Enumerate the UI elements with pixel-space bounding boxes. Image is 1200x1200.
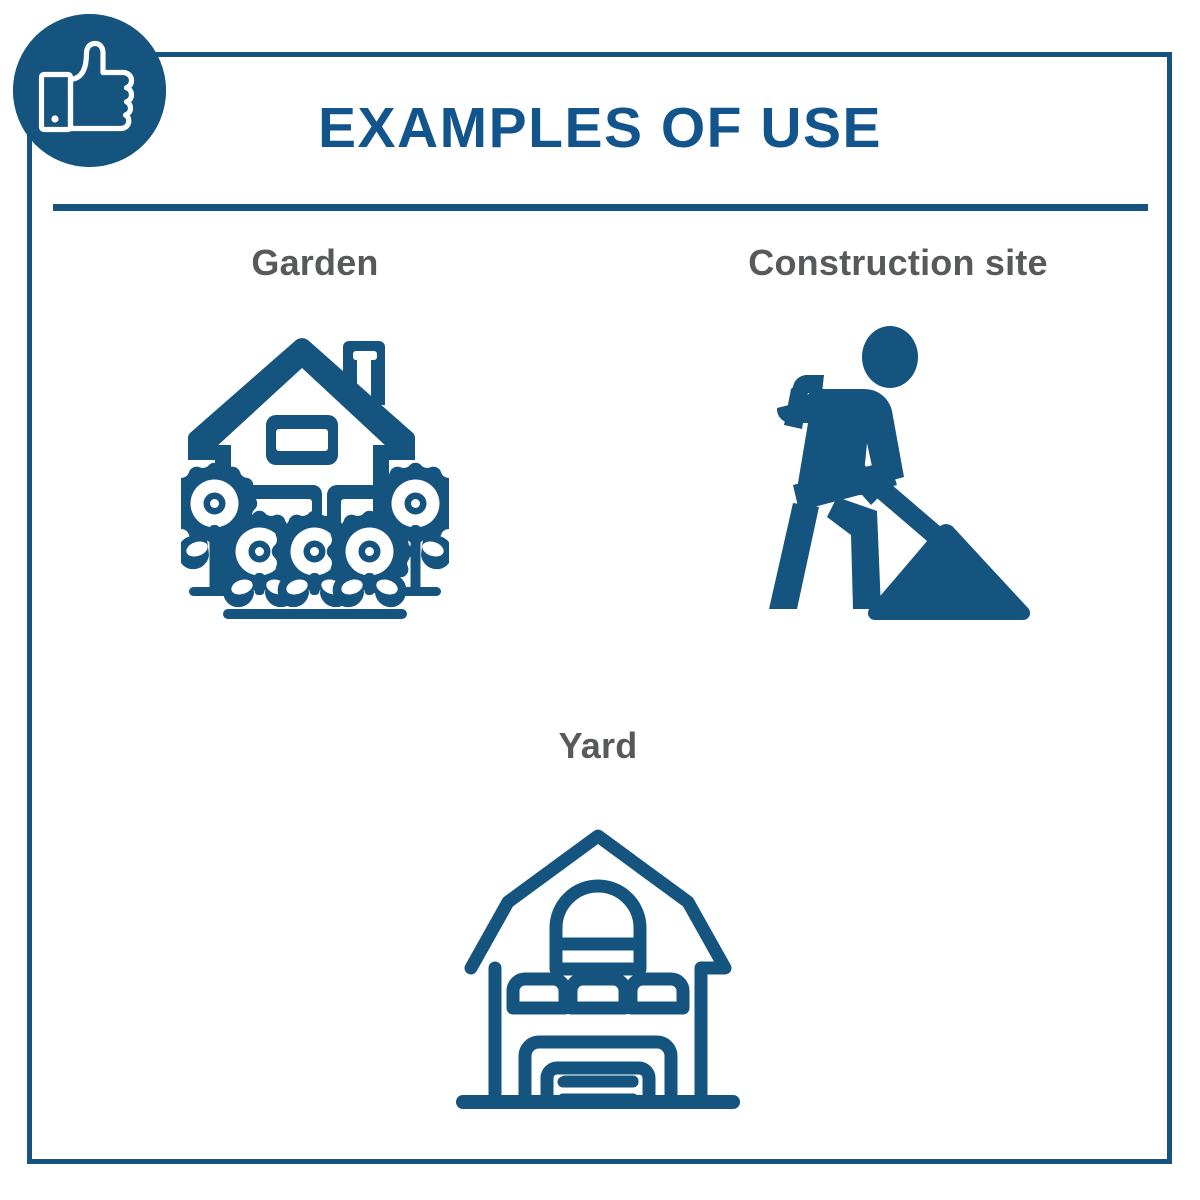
worker-with-shovel-icon [763, 325, 1033, 620]
title-divider [53, 204, 1148, 211]
example-label-construction-site: Construction site [718, 245, 1078, 281]
house-with-flowers-icon [181, 333, 449, 625]
thumbs-up-icon [13, 14, 166, 167]
thumbs-up-badge [13, 14, 166, 167]
page-title: EXAMPLES OF USE [0, 100, 1200, 157]
poster-canvas: EXAMPLES OF USE Garden [0, 0, 1200, 1200]
example-label-yard: Yard [443, 728, 753, 764]
example-icon-construction-site [718, 325, 1078, 620]
example-yard: Yard [443, 728, 753, 1116]
barn-icon [453, 816, 743, 1116]
example-construction-site: Construction site [718, 245, 1078, 620]
example-label-garden: Garden [160, 245, 470, 281]
example-icon-garden [160, 333, 470, 625]
example-icon-yard [443, 816, 753, 1116]
example-garden: Garden [160, 245, 470, 625]
